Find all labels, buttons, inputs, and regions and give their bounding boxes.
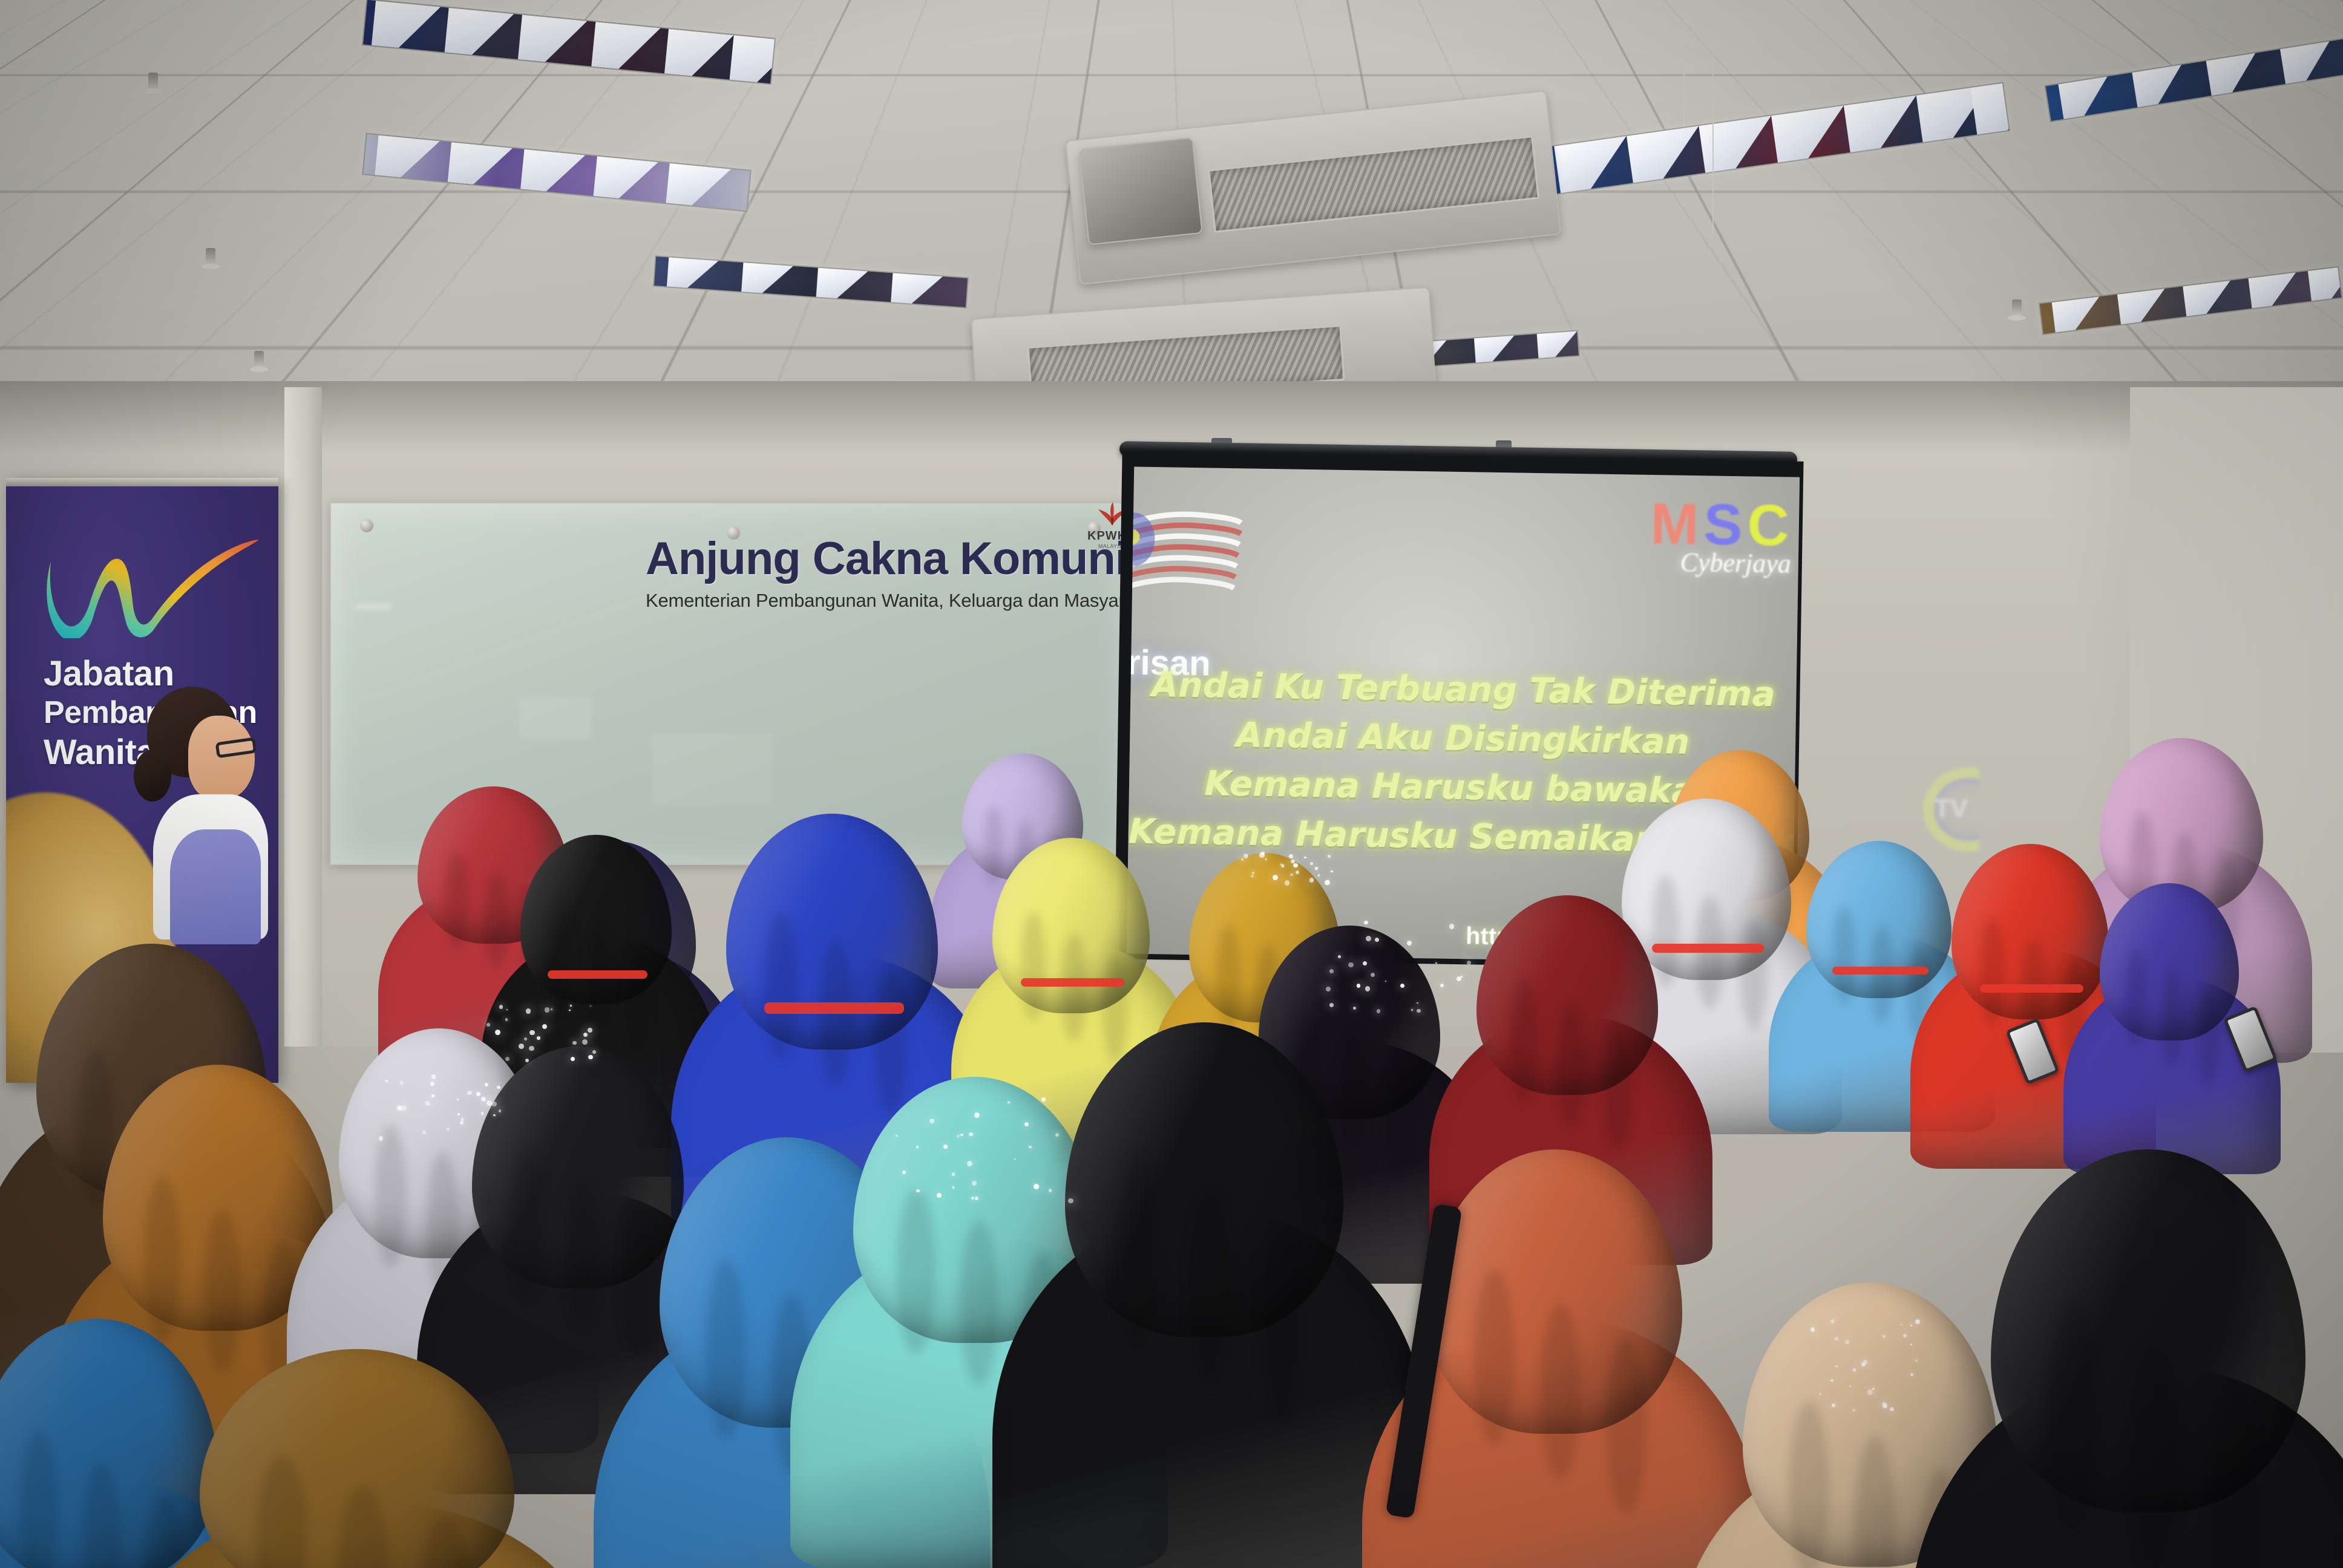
hijab-sparkle — [461, 1118, 464, 1120]
hijab-sparkle — [1357, 984, 1361, 988]
hijab-fold — [1540, 1303, 1581, 1479]
red-ribbon — [764, 1002, 904, 1014]
hijab-sparkle — [431, 1074, 436, 1079]
hijab-fold — [2129, 1345, 2180, 1568]
hijab-sparkle — [916, 1189, 919, 1192]
hijab-fold — [764, 913, 798, 1059]
hijab-fold — [445, 852, 469, 950]
hijab-sparkle — [1461, 976, 1463, 978]
hijab-sparkle — [1910, 1344, 1912, 1345]
hijab-sparkle — [1244, 854, 1248, 858]
hijab-fold — [2048, 1302, 2098, 1527]
hijab-fold — [1509, 979, 1538, 1103]
hijab-fold — [565, 1177, 599, 1327]
red-ribbon — [1652, 944, 1764, 953]
hijab-sparkle — [1318, 874, 1320, 876]
hijab-fold — [1474, 1269, 1515, 1445]
hijab-sparkle — [570, 1005, 572, 1007]
hijab-fold — [1789, 1402, 1829, 1568]
audience-member — [1428, 1149, 1682, 1568]
hijab-sparkle — [1251, 875, 1253, 877]
hijab-sparkle — [1289, 854, 1293, 858]
hijab-sparkle — [1440, 984, 1444, 987]
hijab-sparkle — [1328, 855, 1330, 857]
hijab-sparkle — [1449, 924, 1454, 929]
hijab-sparkle — [1417, 1002, 1418, 1004]
hijab-sparkle — [491, 1102, 497, 1107]
hijab-sparkle — [537, 1036, 540, 1039]
hijab-fold — [620, 1206, 654, 1356]
hijab-sparkle — [545, 1007, 549, 1012]
hijab-sparkle — [400, 1081, 404, 1085]
hijab-sparkle — [1903, 1334, 1907, 1338]
hijab-sparkle — [529, 1046, 534, 1051]
hijab-sparkle — [960, 1134, 963, 1136]
hijab-fold — [144, 1177, 181, 1342]
hijab-fold — [1832, 907, 1855, 1004]
hijab-sparkle — [499, 1005, 503, 1008]
hijab-sparkle — [457, 1099, 459, 1100]
hijab-sparkle — [430, 1104, 431, 1105]
hijab-fold — [1216, 924, 1240, 1030]
hijab-sparkle — [1867, 1390, 1873, 1395]
hijab-sparkle — [487, 1023, 490, 1026]
audience-member — [0, 1319, 218, 1568]
hijab-sparkle — [1365, 986, 1370, 991]
hijab-sparkle — [952, 1172, 955, 1175]
audience-member — [1991, 1149, 2305, 1568]
hijab-fold — [2125, 949, 2147, 1047]
hijab-sparkle — [1910, 1324, 1913, 1327]
hijab-fold — [1556, 1003, 1585, 1127]
hijab-sparkle — [505, 1057, 510, 1061]
hijab-sparkle — [1348, 962, 1354, 968]
red-ribbon — [1832, 967, 1928, 975]
hijab-fold — [1740, 918, 1768, 1031]
hijab-sparkle — [1041, 1097, 1046, 1102]
hijab-sparkle — [1863, 1360, 1867, 1364]
hijab-sparkle — [1883, 1335, 1885, 1338]
hijab-fold — [819, 941, 853, 1088]
hijab-fold — [1386, 1053, 1415, 1173]
red-ribbon — [1021, 978, 1125, 987]
hijab-sparkle — [1329, 969, 1334, 973]
hijab-fold — [1115, 1154, 1160, 1349]
hijab-fold — [1604, 1027, 1633, 1151]
hijab-fold — [510, 1148, 544, 1298]
hijab-sparkle — [1293, 863, 1297, 867]
hijab-sparkle — [1810, 1327, 1815, 1332]
hijab-sparkle — [1363, 961, 1367, 965]
hijab-fold — [375, 1125, 407, 1268]
hijab-fold — [1606, 1337, 1647, 1513]
hijab-sparkle — [1467, 961, 1471, 965]
hijab-sparkle — [1901, 1324, 1902, 1325]
hijab-fold — [2161, 968, 2183, 1065]
hijab-sparkle — [1417, 1009, 1420, 1013]
hijab-sparkle — [1338, 955, 1341, 958]
audience-member — [1065, 1022, 1343, 1568]
hijab-sparkle — [1364, 921, 1368, 924]
hijab-sparkle — [1068, 1198, 1073, 1204]
audience-member — [200, 1349, 514, 1568]
hijab-fold — [587, 926, 611, 1031]
hijab-sparkle — [430, 1082, 434, 1086]
hijab-sparkle — [1435, 962, 1437, 964]
hijab-fold — [706, 1259, 746, 1440]
hijab-fold — [484, 871, 508, 969]
audience — [0, 0, 2343, 1568]
hijab-fold — [1980, 918, 2005, 1027]
hijab-fold — [1021, 912, 1046, 1021]
hijab-sparkle — [1830, 1319, 1835, 1324]
hijab-fold — [1187, 1192, 1232, 1387]
hijab-sparkle — [943, 1145, 948, 1149]
hijab-sparkle — [481, 1097, 486, 1102]
hijab-sparkle — [551, 1008, 552, 1010]
hijab-sparkle — [487, 1100, 492, 1106]
hijab-sparkle — [524, 1037, 527, 1040]
hijab-sparkle — [485, 1083, 488, 1086]
hijab-fold — [2197, 987, 2220, 1085]
hijab-sparkle — [1853, 1368, 1856, 1371]
hijab-sparkle — [519, 1044, 524, 1049]
hijab-sparkle — [583, 1033, 588, 1037]
hijab-fold — [1260, 1230, 1305, 1425]
hijab-sparkle — [1407, 941, 1411, 945]
hijab-sparkle — [447, 1128, 450, 1131]
hijab-sparkle — [1329, 1003, 1334, 1007]
hijab-sparkle — [1832, 1403, 1835, 1406]
photo-scene: Jabatan Pembangunan Wanita KPWKM MALAYSI… — [0, 0, 2343, 1568]
hijab-sparkle — [975, 1197, 978, 1200]
hijab-sparkle — [588, 1055, 592, 1059]
hijab-fold — [548, 906, 572, 1011]
red-ribbon — [548, 970, 647, 979]
hijab-sparkle — [1259, 852, 1264, 857]
hijab-sparkle — [971, 1197, 974, 1200]
hijab-sparkle — [1309, 878, 1314, 882]
hijab-sparkle — [526, 1008, 531, 1013]
hijab-sparkle — [1034, 1184, 1038, 1189]
audience-member — [2100, 883, 2239, 1182]
hijab-sparkle — [1377, 1009, 1380, 1013]
hijab-sparkle — [1835, 1337, 1838, 1341]
red-ribbon — [1980, 984, 2084, 993]
hijab-fold — [960, 1221, 998, 1386]
hijab-sparkle — [588, 1028, 592, 1033]
hijab-sparkle — [460, 1121, 464, 1125]
hijab-sparkle — [397, 1106, 402, 1111]
hijab-sparkle — [957, 1135, 959, 1137]
hijab-sparkle — [592, 1050, 596, 1054]
hijab-sparkle — [1890, 1407, 1894, 1411]
hijab-sparkle — [1290, 874, 1293, 877]
hijab-sparkle — [582, 1039, 588, 1045]
hijab-sparkle — [969, 1132, 972, 1136]
hijab-sparkle — [385, 1080, 388, 1082]
hijab-sparkle — [952, 1186, 955, 1189]
hijab-sparkle — [1315, 867, 1318, 870]
hijab-fold — [897, 1189, 936, 1354]
hijab-sparkle — [425, 1101, 430, 1105]
hijab-fold — [626, 947, 650, 1052]
